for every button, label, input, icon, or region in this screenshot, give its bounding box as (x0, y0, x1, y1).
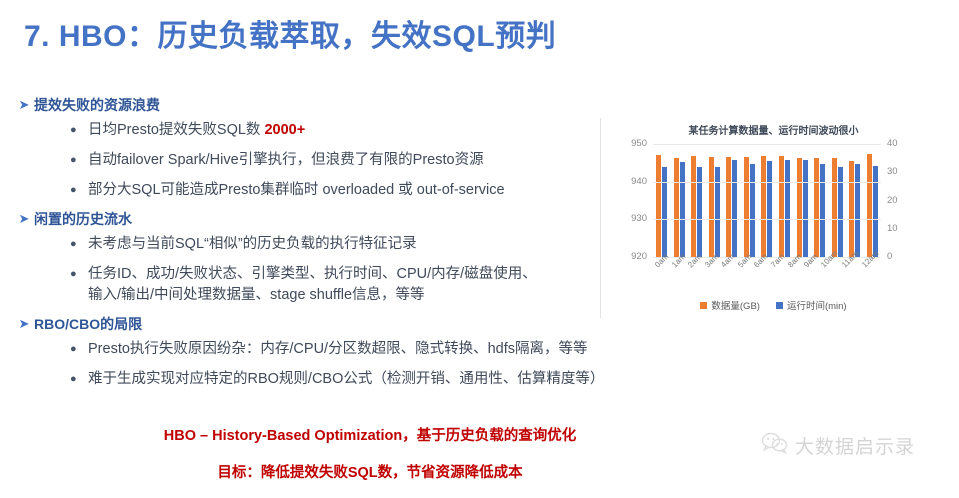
chart-bar-series-0 (656, 155, 661, 257)
sub-bullet-label: 自动failover Spark/Hive引擎执行，但浪费了有限的Presto资… (88, 150, 484, 171)
dot-bullet-icon: ● (70, 369, 88, 389)
chart-bar-series-0 (726, 157, 731, 257)
section: ➤闲置的历史流水●未考虑与当前SQL“相似”的历史负载的执行特征记录●任务ID、… (14, 210, 614, 306)
chart-bar-group (706, 144, 724, 257)
arrow-bullet-icon: ➤ (14, 315, 34, 333)
sub-bullet: ●难于生成实现对应特定的RBO规则/CBO公式（检测开销、通用性、估算精度等） (70, 369, 614, 390)
sub-bullet-label: Presto执行失败原因纷杂：内存/CPU/分区数超限、隐式转换、hdfs隔离，… (88, 339, 587, 360)
chart-bar-series-1 (838, 167, 843, 257)
sub-bullet-label: 日均Presto提效失败SQL数 2000+ (88, 120, 305, 141)
content-body: ➤提效失败的资源浪费●日均Presto提效失败SQL数 2000+●自动fail… (14, 96, 614, 399)
chart-bar-group (776, 144, 794, 257)
sub-bullet-label: 部分大SQL可能造成Presto集群临时 overloaded 或 out-of… (88, 180, 505, 201)
chart-bar-series-1 (820, 164, 825, 257)
chart-x-axis-labels: 0am1am2am3am4am5am6am7am8am9am10am11am12… (653, 260, 881, 294)
chart-bar-series-1 (803, 160, 808, 257)
legend-swatch-icon (700, 302, 707, 309)
chart-bar-group (653, 144, 671, 257)
chart-gridline (653, 219, 881, 220)
chart-legend-item: 运行时间(min) (776, 298, 847, 312)
sub-bullet: ●部分大SQL可能造成Presto集群临时 overloaded 或 out-o… (70, 180, 614, 201)
dot-bullet-icon: ● (70, 339, 88, 359)
dot-bullet-icon: ● (70, 264, 88, 284)
chart-bar-series-1 (785, 160, 790, 257)
sub-bullet: ●自动failover Spark/Hive引擎执行，但浪费了有限的Presto… (70, 150, 614, 171)
highlight-value: 2000+ (264, 122, 305, 138)
chart-bar-series-0 (674, 158, 679, 257)
sub-bullet-label-line2: 输入/输出/中间处理数据量、stage shuffle信息，等等 (88, 285, 537, 306)
arrow-bullet-icon: ➤ (14, 210, 34, 228)
chart-plot-area (653, 144, 881, 257)
dot-bullet-icon: ● (70, 180, 88, 200)
chart-y-tick-left: 950 (603, 139, 647, 149)
chart-bar-series-1 (767, 161, 772, 257)
chart-bar-series-1 (855, 164, 860, 257)
chart-bar-group (811, 144, 829, 257)
chart-title: 某任务计算数据量、运行时间波动很小 (601, 122, 946, 137)
watermark: 大数据启示录 (762, 432, 915, 459)
chart-y-tick-right: 20 (887, 196, 931, 206)
chart-y-tick-right: 10 (887, 224, 931, 234)
chart-bar-group (741, 144, 759, 257)
chart-bar-series-1 (715, 167, 720, 257)
chart-bar-series-1 (750, 164, 755, 257)
footer-line-2: 目标：降低提效失败SQL数，节省资源降低成本 (0, 461, 740, 482)
section-heading: ➤闲置的历史流水 (14, 210, 614, 228)
chart-bar-group (863, 144, 881, 257)
chart-bar-series-1 (697, 167, 702, 257)
chart-bar-group (758, 144, 776, 257)
chart-legend: 数据量(GB)运行时间(min) (601, 298, 946, 312)
sub-bullet: ●Presto执行失败原因纷杂：内存/CPU/分区数超限、隐式转换、hdfs隔离… (70, 339, 614, 360)
chart-bar-group (671, 144, 689, 257)
section: ➤RBO/CBO的局限●Presto执行失败原因纷杂：内存/CPU/分区数超限、… (14, 315, 614, 390)
section-heading-label: 提效失败的资源浪费 (34, 96, 160, 114)
sub-bullet-label: 任务ID、成功/失败状态、引擎类型、执行时间、CPU/内存/磁盘使用、输入/输出… (88, 264, 537, 306)
chart-bar-series-0 (744, 157, 749, 257)
chart-y-tick-right: 30 (887, 167, 931, 177)
watermark-text: 大数据启示录 (795, 432, 915, 459)
chart-panel: 某任务计算数据量、运行时间波动很小 920930940950 010203040… (600, 118, 946, 318)
section-heading: ➤提效失败的资源浪费 (14, 96, 614, 114)
chart-legend-item: 数据量(GB) (700, 298, 760, 312)
chart-bar-group (828, 144, 846, 257)
dot-bullet-icon: ● (70, 234, 88, 254)
section: ➤提效失败的资源浪费●日均Presto提效失败SQL数 2000+●自动fail… (14, 96, 614, 201)
sub-bullet-label: 未考虑与当前SQL“相似”的历史负载的执行特征记录 (88, 234, 417, 255)
chart-bar-group (793, 144, 811, 257)
sub-bullet: ●任务ID、成功/失败状态、引擎类型、执行时间、CPU/内存/磁盘使用、输入/输… (70, 264, 614, 306)
chart-bar-group (723, 144, 741, 257)
chart-bars (653, 144, 881, 257)
chart-bar-series-0 (691, 156, 696, 257)
chart-bar-series-0 (867, 154, 872, 257)
chart-bar-group (688, 144, 706, 257)
footer-line-1: HBO – History-Based Optimization，基于历史负载的… (0, 424, 740, 445)
sub-bullet-label: 难于生成实现对应特定的RBO规则/CBO公式（检测开销、通用性、估算精度等） (88, 369, 604, 390)
legend-label: 运行时间(min) (787, 298, 847, 312)
chart-bar-series-0 (849, 161, 854, 257)
chart-bar-series-0 (709, 157, 714, 257)
chart-bar-series-0 (761, 156, 766, 257)
section-heading-label: 闲置的历史流水 (34, 210, 132, 228)
chart-gridline (653, 144, 881, 145)
wechat-icon (762, 432, 788, 459)
section-heading: ➤RBO/CBO的局限 (14, 315, 614, 333)
dot-bullet-icon: ● (70, 150, 88, 170)
legend-swatch-icon (776, 302, 783, 309)
page-title: 7. HBO：历史负载萃取，失效SQL预判 (24, 11, 556, 55)
chart-bar-group (846, 144, 864, 257)
sub-bullet: ●未考虑与当前SQL“相似”的历史负载的执行特征记录 (70, 234, 614, 255)
chart-y-tick-right: 0 (887, 252, 931, 262)
chart-bar-series-1 (662, 167, 667, 257)
chart-y-tick-left: 940 (603, 177, 647, 187)
chart-bar-series-1 (732, 160, 737, 257)
chart-y-tick-left: 930 (603, 214, 647, 224)
chart-bar-series-0 (814, 158, 819, 257)
chart-bar-series-0 (832, 158, 837, 257)
chart-bar-series-1 (680, 162, 685, 257)
arrow-bullet-icon: ➤ (14, 96, 34, 114)
chart-bar-series-1 (873, 166, 878, 257)
legend-label: 数据量(GB) (711, 298, 760, 312)
section-heading-label: RBO/CBO的局限 (34, 315, 142, 333)
chart-bar-series-0 (779, 156, 784, 257)
chart-y-tick-left: 920 (603, 252, 647, 262)
chart-y-tick-right: 40 (887, 139, 931, 149)
chart-bar-series-0 (797, 158, 802, 257)
chart-gridline (653, 182, 881, 183)
sub-bullet: ●日均Presto提效失败SQL数 2000+ (70, 120, 614, 141)
dot-bullet-icon: ● (70, 120, 88, 140)
